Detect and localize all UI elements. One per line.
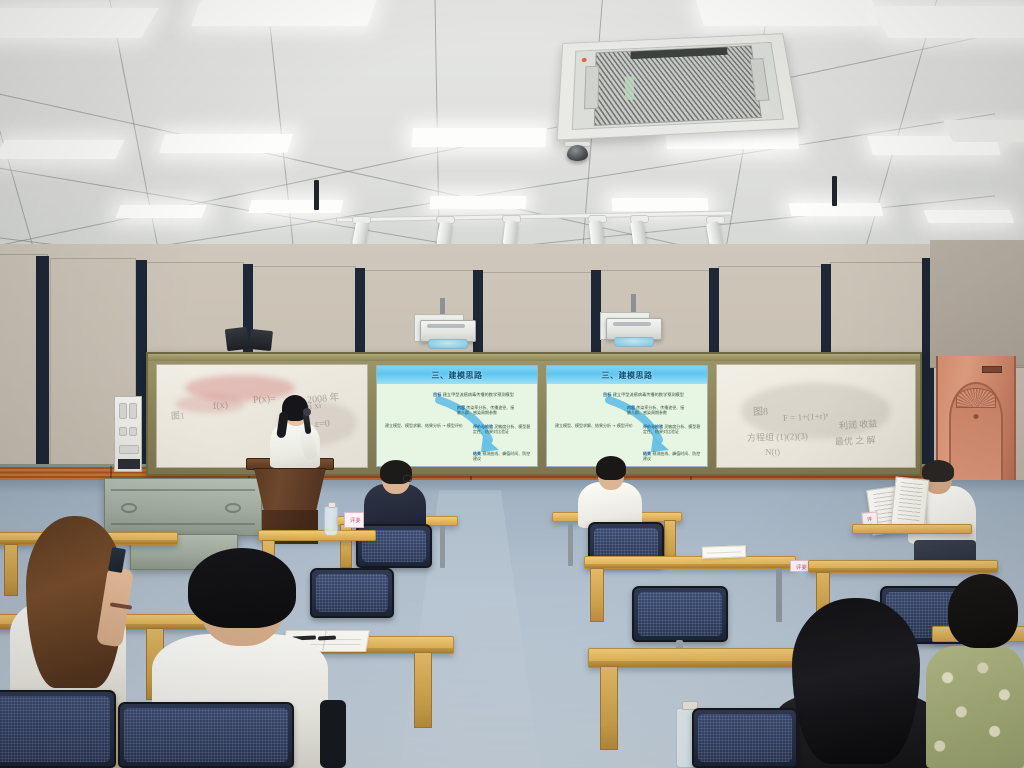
student-hair — [792, 598, 920, 764]
desk-front-edge — [809, 568, 997, 572]
chair-mesh-back — [638, 592, 722, 636]
table-right-mid[interactable] — [808, 560, 998, 573]
rack-unit — [129, 427, 137, 436]
slide-block-result: 结果 预测曲线、峰值时间、防控建议 — [643, 451, 703, 461]
whiteboard-right: 图8 F = 1+(1+r)ⁿ 利润 收益 方程组 (1)(2)(3) 最优 之… — [716, 364, 916, 468]
student-back-center — [572, 458, 650, 524]
whiteboard-note: 图8 — [753, 402, 769, 418]
whiteboard-note: 最优 之 解 — [835, 433, 876, 448]
ceiling-light-panel — [943, 120, 1024, 142]
chair-mesh-back — [0, 696, 110, 762]
board-top-rail — [148, 354, 920, 361]
slide-body: 目标 建立甲型流感病毒传播的数学预测模型 内容 传染率分析、传播途径、接触人群、… — [547, 366, 707, 466]
rack-unit — [119, 445, 139, 454]
ceiling-light-panel — [191, 0, 376, 26]
eyeglasses-icon — [403, 475, 412, 482]
bottle-cap — [328, 502, 336, 508]
slide-block-key: 目标 — [433, 392, 441, 397]
attendee-torso — [926, 646, 1024, 768]
slide-block-side: 建立模型、模型求解、结果分析 → 模型评价 — [385, 423, 467, 428]
console-seam — [111, 489, 255, 491]
projection-screen-left: 三、建模思路 目标 建立甲型流感病毒传播的数学预测模型 内容 传染率分析、传播途… — [376, 365, 538, 467]
chair-armrest — [320, 700, 346, 768]
presenter — [262, 392, 332, 472]
rack-unit — [129, 403, 137, 419]
whiteboard-note: N(t) — [765, 446, 780, 457]
open-document-page — [890, 476, 929, 529]
student-hair — [596, 456, 626, 480]
security-camera-icon — [567, 145, 588, 161]
table-side-panel — [600, 666, 618, 750]
projector-arm — [631, 294, 636, 314]
attendee-floral — [926, 574, 1024, 768]
lectern-podium — [254, 468, 326, 512]
slide-block-content: 内容 传染率分析、传播途径、接触人群、感染周期参数 — [627, 405, 685, 415]
table-mid-center[interactable] — [584, 556, 796, 569]
slide-block-eval: 评价与检验 灵敏度分析、模型稳定性、结果对比验证 — [643, 424, 701, 434]
microphone-head — [303, 408, 311, 416]
air-conditioner-unit — [556, 33, 800, 140]
placard-text: 评委 — [796, 564, 807, 571]
projector-lens — [614, 337, 654, 347]
slide-block-text: 预测曲线、峰值时间、防控建议 — [473, 451, 530, 461]
table-side-panel — [590, 568, 604, 622]
table-leg — [568, 522, 573, 566]
slide-block-text: 传染率分析、传播途径、接触人群、感染周期参数 — [457, 405, 514, 415]
slide-block-text: 预测曲线、峰值时间、防控建议 — [643, 451, 700, 461]
whiteboard-note: 利润 收益 — [839, 416, 878, 432]
speaker-box — [249, 329, 273, 351]
whiteboard-note: 图1 — [171, 408, 185, 422]
slide-block-result: 结果 预测曲线、峰值时间、防控建议 — [473, 451, 533, 461]
table-mid-left[interactable] — [258, 530, 376, 541]
ceiling-light-panel — [871, 6, 1024, 38]
placard-text: 评委 — [350, 517, 361, 524]
slide-block-goal: 目标 建立甲型流感病毒传播的数学预测模型 — [603, 392, 684, 397]
whiteboard-note: f(x) — [212, 399, 228, 412]
whiteboard-note: 方程组 (1)(2)(3) — [747, 429, 808, 444]
document-text-lines — [897, 482, 923, 524]
ceiling-drop-rod — [314, 180, 319, 210]
ac-grille — [594, 45, 762, 126]
slide-block-text: 建立甲型流感病毒传播的数学预测模型 — [613, 392, 684, 397]
attendee-hair — [948, 574, 1018, 648]
wall-soffit — [936, 244, 1024, 366]
ac-side-vent — [584, 66, 599, 110]
slide-block-key: 目标 — [603, 392, 611, 397]
whiteboard-smear — [175, 395, 245, 413]
slide-block-text: 建立模型、模型求解、结果分析 → 模型评价 — [385, 423, 463, 428]
ceiling-light-panel — [0, 140, 125, 159]
chair-mesh-back — [124, 708, 288, 762]
ceiling-light-panel — [924, 210, 1015, 223]
slide-left: 三、建模思路 目标 建立甲型流感病毒传播的数学预测模型 内容 传染率分析、传播途… — [377, 366, 537, 466]
ceiling-light-panel — [429, 196, 526, 209]
lecture-hall-photo: 图1 f(x) P(x)= ∑ ai xi 2008 年 ε=0 三、建模思路 — [0, 0, 1024, 768]
slide-block-text: 建立甲型流感病毒传播的数学预测模型 — [443, 392, 514, 397]
ceiling-light-panel — [612, 198, 709, 211]
paper-line — [707, 551, 741, 553]
projector-lens — [428, 339, 468, 349]
ceiling-light-panel — [159, 134, 293, 153]
slide-block-side: 建立模型、模型求解、结果分析 → 模型评价 — [555, 423, 637, 428]
rack-unit — [119, 427, 127, 436]
table-side-panel — [414, 652, 432, 728]
slide-block-text: 传染率分析、传播途径、接触人群、感染周期参数 — [627, 405, 684, 415]
ceiling-light-panel — [696, 0, 879, 26]
ceiling-light-panel — [116, 205, 207, 218]
ceiling-light-panel — [0, 8, 159, 38]
track-spotlight — [589, 220, 605, 246]
suspended-ceiling — [0, 0, 1024, 268]
chair-front-center[interactable] — [118, 702, 294, 768]
desk-front-edge — [585, 564, 795, 568]
stacked-papers[interactable] — [702, 545, 746, 559]
chair-front-left[interactable] — [0, 690, 116, 768]
slide-right: 三、建模思路 目标 建立甲型流感病毒传播的数学预测模型 内容 传染率分析、传播途… — [547, 366, 707, 466]
rack-unit — [119, 403, 127, 419]
ceiling-light-panel — [248, 200, 343, 213]
table-right-back[interactable] — [852, 524, 972, 534]
slide-block-content: 内容 传染率分析、传播途径、接触人群、感染周期参数 — [457, 405, 515, 415]
wall-accent-strip — [36, 256, 49, 492]
chair-mid-center[interactable] — [632, 586, 728, 642]
water-bottle[interactable] — [324, 506, 338, 536]
speaker-box — [225, 327, 250, 352]
ceiling-light-panel — [411, 128, 547, 147]
ceiling-drop-rod — [832, 176, 837, 206]
student-back-left — [358, 462, 434, 528]
slide-block-eval: 评价与检验 灵敏度分析、模型稳定性、结果对比验证 — [473, 424, 531, 434]
table-leg — [440, 526, 445, 568]
chair-front-right[interactable] — [692, 708, 798, 768]
chair-mesh-back — [698, 714, 792, 762]
door-sign-plate — [982, 366, 1002, 373]
projection-screen-right: 三、建模思路 目标 建立甲型流感病毒传播的数学预测模型 内容 传染率分析、传播途… — [546, 365, 708, 467]
slide-block-goal: 目标 建立甲型流感病毒传播的数学预测模型 — [433, 392, 514, 397]
equipment-rack — [114, 396, 142, 472]
name-placard: 评委 — [344, 512, 364, 528]
slide-block-text: 建立模型、模型求解、结果分析 → 模型评价 — [555, 423, 633, 428]
console-handle[interactable] — [225, 503, 241, 513]
student-hair — [188, 548, 296, 628]
door-fan-carving — [956, 388, 996, 408]
slide-body: 目标 建立甲型流感病毒传播的数学预测模型 内容 传染率分析、传播途径、接触人群、… — [377, 366, 537, 466]
